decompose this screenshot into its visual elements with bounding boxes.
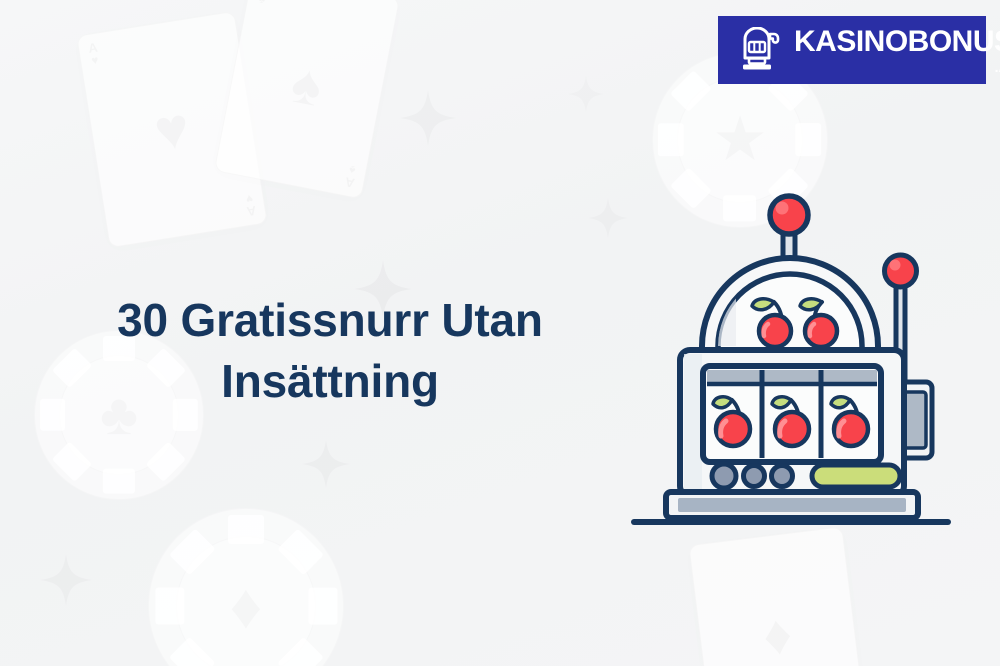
watermark-card-diamond: ♦ xyxy=(688,526,866,666)
card-pip-spade: ♠ xyxy=(287,54,327,115)
sparkle-icon xyxy=(566,74,606,114)
chip-pip-diamond: ♦ xyxy=(230,574,263,638)
slot-machine-icon xyxy=(734,27,784,73)
card-rank-heart-br: A♥ xyxy=(244,192,257,218)
machine-dome xyxy=(702,258,878,354)
page-title: 30 Gratissnurr Utan Insättning xyxy=(40,290,620,411)
slot-machine-illustration xyxy=(628,186,954,532)
kasinobonus-logo[interactable]: KASINOBONUS .AI xyxy=(718,16,986,84)
promo-banner: A♥ ♥ A♥ A♠ ♠ A♠ ♦ ★ ♣ xyxy=(0,0,1000,666)
watermark-card-spades: A♠ ♠ A♠ xyxy=(214,0,400,199)
headline-line-2: Insättning xyxy=(221,355,439,407)
chip-pip-star: ★ xyxy=(712,109,768,171)
logo-tld: .AI xyxy=(995,60,1000,74)
sparkle-icon xyxy=(300,438,352,490)
machine-base xyxy=(634,492,948,522)
card-rank-heart: A♥ xyxy=(87,41,100,67)
sparkle-icon xyxy=(586,196,630,240)
top-finial xyxy=(770,196,808,262)
sparkle-icon xyxy=(38,552,94,608)
headline-line-1: 30 Gratissnurr Utan xyxy=(117,294,543,346)
card-pip-heart: ♥ xyxy=(150,98,193,161)
card-pip-diamond: ♦ xyxy=(760,605,795,664)
reel-panel xyxy=(703,366,881,462)
card-rank-spade: A♠ xyxy=(256,0,270,6)
sparkle-icon xyxy=(398,88,458,148)
card-rank-spade-br: A♠ xyxy=(344,163,358,189)
watermark-chip-diamond: ♦ xyxy=(148,508,344,666)
logo-wordmark: KASINOBONUS xyxy=(794,27,1000,57)
watermark-card-hearts: A♥ ♥ A♥ xyxy=(76,11,268,248)
